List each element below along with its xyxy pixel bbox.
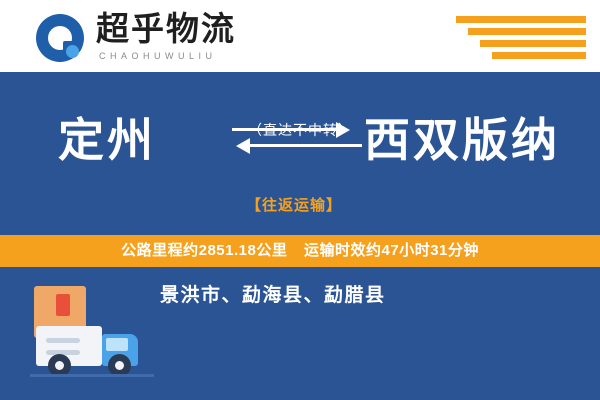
hero-banner: 定州 西双版纳 （直达不中转） 【往返运输】 (0, 72, 600, 235)
parcel-tape (56, 294, 70, 316)
ground-line (30, 374, 154, 377)
delivery-truck-icon (30, 278, 160, 383)
speed-stripes-icon (456, 16, 586, 60)
poster-root: 超乎物流 CHAOHUWULIU 定州 西双版纳 （直达不中转） 【往返运输】 (0, 0, 600, 400)
brand-name-en: CHAOHUWULIU (96, 51, 236, 61)
logo-dot (66, 45, 79, 58)
stripe-1 (456, 16, 586, 23)
info-bar-text: 公路里程约2851.18公里 运输时效约47小时31分钟 (0, 235, 600, 267)
brand-block: 超乎物流 CHAOHUWULIU (96, 10, 236, 61)
arrow-head-left (236, 138, 250, 154)
wheel-hub-rear (55, 361, 64, 370)
brand-name-cn: 超乎物流 (96, 10, 236, 48)
route-row: 定州 西双版纳 (0, 100, 600, 180)
wheel-hub-front (115, 361, 124, 370)
header: 超乎物流 CHAOHUWULIU (0, 0, 600, 72)
truck-window (106, 338, 128, 351)
arrow-line-left (250, 144, 362, 147)
direct-badge: （直达不中转） (248, 120, 353, 140)
duration-text: 运输时效约47小时31分钟 (304, 242, 479, 259)
distance-text: 公路里程约2851.18公里 (121, 242, 287, 259)
round-trip-badge: 【往返运输】 (246, 194, 342, 215)
destination-city: 西双版纳 (364, 100, 560, 180)
info-bar: 公路里程约2851.18公里 运输时效约47小时31分钟 (0, 235, 600, 267)
destination-list: 景洪市、勐海县、勐腊县 (160, 280, 386, 307)
circle-logo-icon (36, 14, 84, 62)
stripe-2 (468, 28, 586, 35)
origin-city: 定州 (58, 100, 156, 180)
stripe-4 (492, 52, 586, 59)
stripe-3 (480, 40, 586, 47)
truck-line-1 (46, 338, 80, 343)
